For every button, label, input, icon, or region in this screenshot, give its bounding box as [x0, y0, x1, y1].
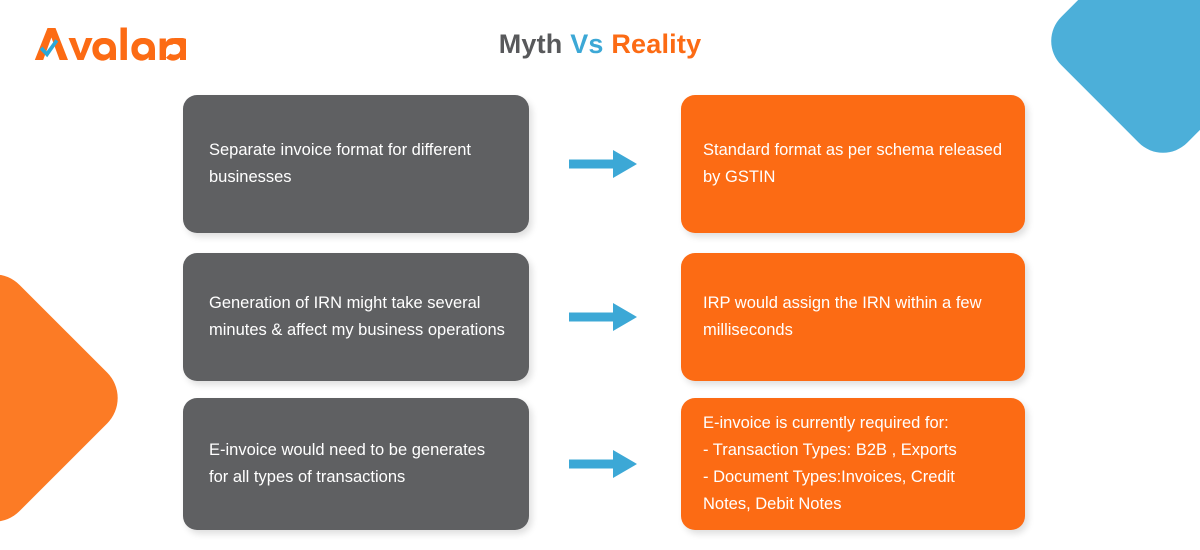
comparison-row: Generation of IRN might take several min… — [0, 253, 1200, 381]
myth-text: Generation of IRN might take several min… — [209, 290, 505, 344]
reality-text: E-invoice is currently required for: - T… — [703, 410, 1005, 518]
reality-card[interactable]: Standard format as per schema released b… — [681, 95, 1025, 233]
myth-text: Separate invoice format for different bu… — [209, 137, 505, 191]
myth-reality-grid: Separate invoice format for different bu… — [0, 0, 1200, 550]
reality-card[interactable]: E-invoice is currently required for: - T… — [681, 398, 1025, 530]
slide-canvas: Myth Vs Reality Separate invoice format … — [0, 0, 1200, 550]
arrow-right-icon — [569, 447, 637, 481]
comparison-row: Separate invoice format for different bu… — [0, 95, 1200, 233]
myth-card[interactable]: Separate invoice format for different bu… — [183, 95, 529, 233]
myth-card[interactable]: E-invoice would need to be generates for… — [183, 398, 529, 530]
arrow-right-icon — [569, 147, 637, 181]
reality-card[interactable]: IRP would assign the IRN within a few mi… — [681, 253, 1025, 381]
myth-card[interactable]: Generation of IRN might take several min… — [183, 253, 529, 381]
comparison-row: E-invoice would need to be generates for… — [0, 398, 1200, 530]
myth-text: E-invoice would need to be generates for… — [209, 437, 505, 491]
arrow-right-icon — [569, 300, 637, 334]
reality-text: Standard format as per schema released b… — [703, 137, 1005, 191]
reality-text: IRP would assign the IRN within a few mi… — [703, 290, 1005, 344]
